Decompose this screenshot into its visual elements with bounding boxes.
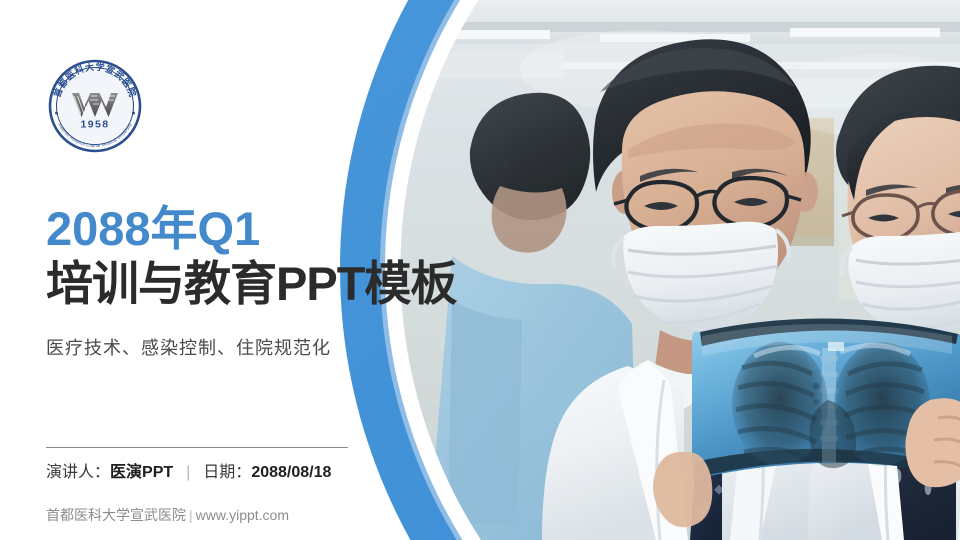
date-value: 2088/08/18 <box>251 464 331 481</box>
presenter-date-line: 演讲人：医演PPT|日期：2088/08/18 <box>46 462 331 484</box>
presenter-value: 医演PPT <box>110 464 173 481</box>
title-line-1: 2088年Q1 <box>46 203 260 255</box>
footer-organization: 首都医科大学宣武医院 <box>46 507 186 523</box>
doctors-reviewing-chest-xray-photo <box>390 0 960 540</box>
university-logo: 首都医科大学宣武医院 Xuanwu Hospital Capital Medic… <box>46 57 144 155</box>
presenter-label: 演讲人： <box>46 464 110 481</box>
title-slide: 首都医科大学宣武医院 Xuanwu Hospital Capital Medic… <box>0 0 960 540</box>
subtitle: 医疗技术、感染控制、住院规范化 <box>46 336 331 360</box>
meta-separator: | <box>173 462 203 484</box>
title-line-2: 培训与教育PPT模板 <box>46 258 456 310</box>
footer: 首都医科大学宣武医院|www.yippt.com <box>46 505 289 525</box>
footer-website[interactable]: www.yippt.com <box>196 507 289 523</box>
logo-year: 1958 <box>81 119 110 131</box>
divider-line <box>46 447 348 448</box>
footer-divider: | <box>186 507 196 523</box>
date-label: 日期： <box>203 464 251 481</box>
